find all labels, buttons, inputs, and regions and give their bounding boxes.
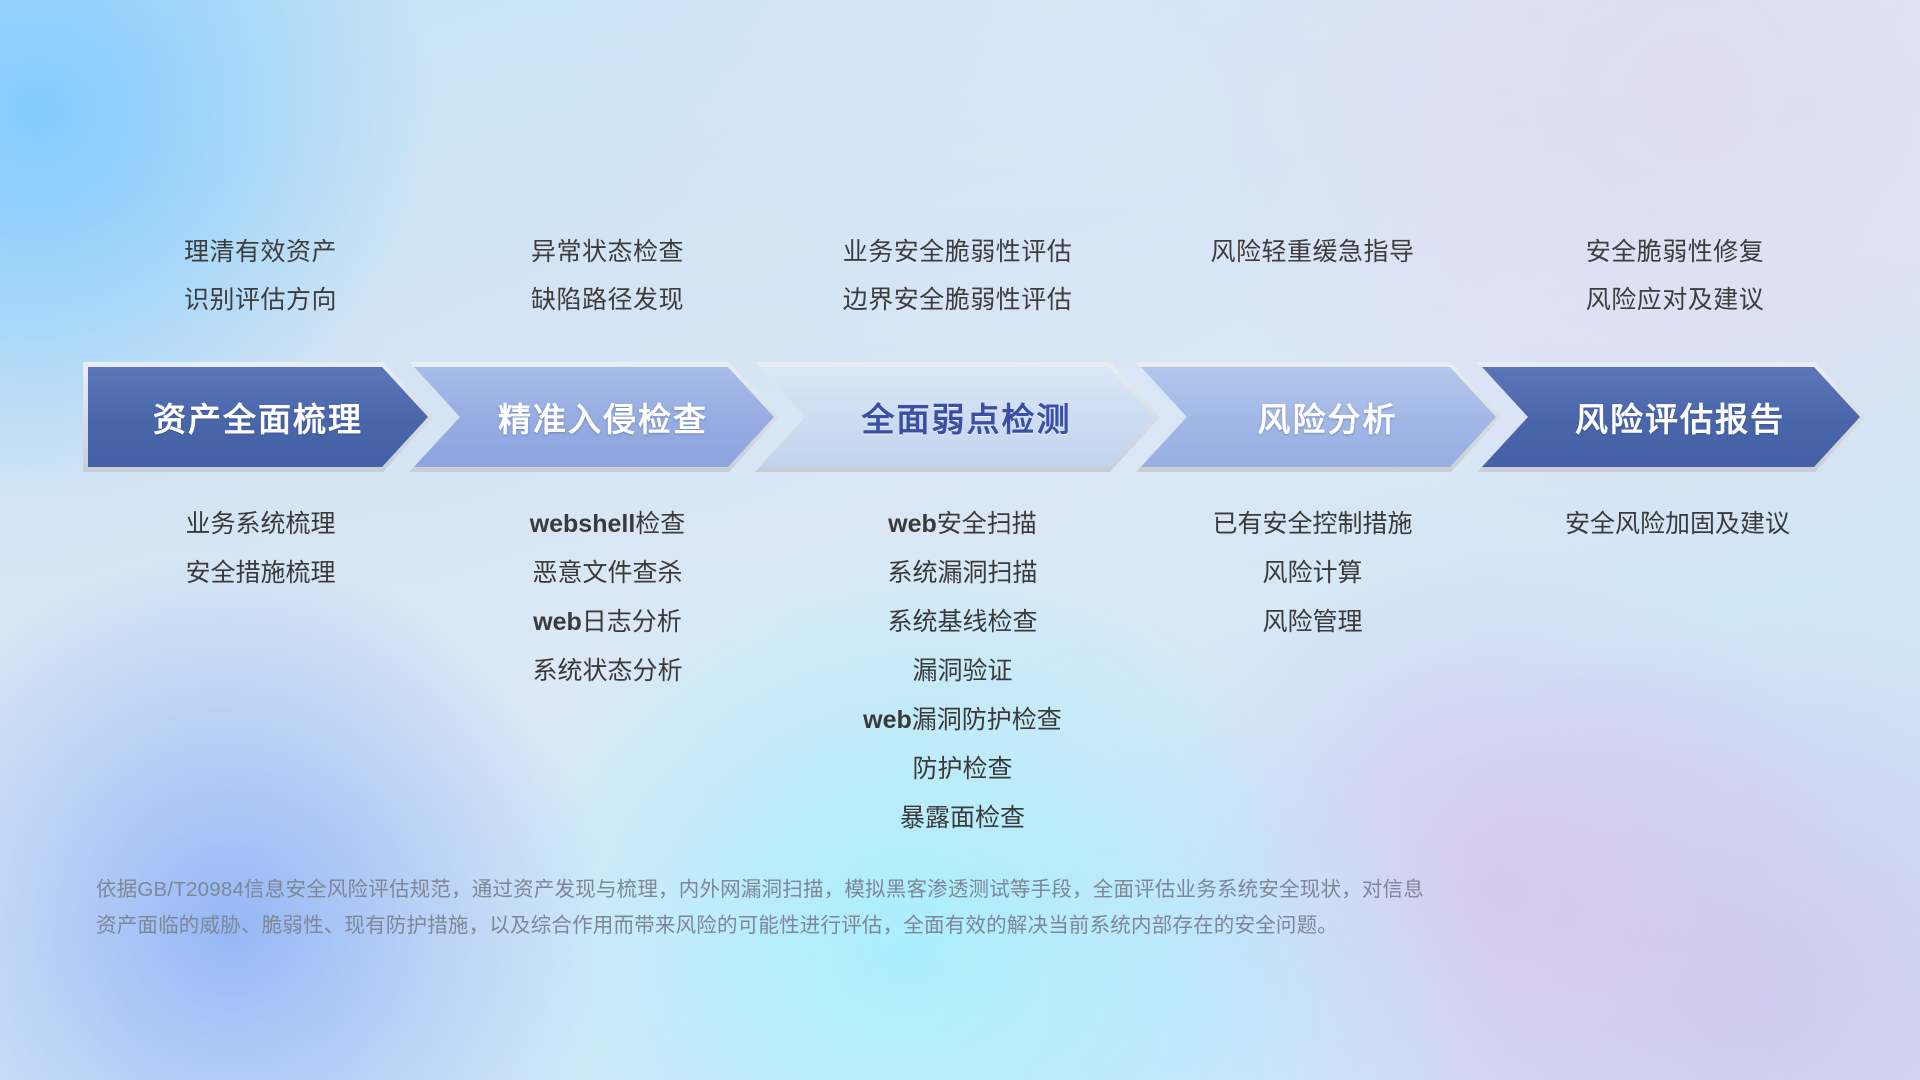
top-labels-asset-inventory: 理清有效资产 识别评估方向 [88, 228, 433, 324]
top-label-row: 理清有效资产 识别评估方向 异常状态检查 缺陷路径发现 业务安全脆弱性评估 边界… [0, 228, 1920, 338]
bottom-label-cjk: 系统基线检查 [887, 608, 1037, 636]
top-label: 业务安全脆弱性评估 [775, 228, 1140, 276]
footer-description: 依据GB/T20984信息安全风险评估规范，通过资产发现与梳理，内外网漏洞扫描，… [96, 872, 1616, 944]
bottom-label-cjk: 漏洞验证 [912, 657, 1012, 685]
bottom-label-latin: web [533, 608, 582, 636]
bottom-label-cjk: 防护检查 [912, 755, 1012, 783]
bottom-label-cjk: 系统漏洞扫描 [887, 559, 1037, 587]
bottom-label: 已有安全控制措施 [1140, 500, 1485, 549]
bottom-label: web安全扫描 [790, 500, 1135, 549]
bottom-label: 业务系统梳理 [88, 500, 433, 549]
bottom-label-cjk: 漏洞防护检查 [912, 706, 1062, 734]
bottom-label-latin: webshell [530, 510, 636, 538]
bottom-labels-weakness-detection: web安全扫描 系统漏洞扫描 系统基线检查 漏洞验证 web漏洞防护检查 防护检… [790, 500, 1135, 843]
stage-title-risk-analysis: 风险分析 [1141, 393, 1496, 441]
top-label: 边界安全脆弱性评估 [775, 276, 1140, 324]
bottom-label: 暴露面检查 [790, 794, 1135, 843]
top-label: 风险应对及建议 [1490, 276, 1860, 324]
bottom-label: webshell检查 [435, 500, 780, 549]
bottom-label-cjk: 安全风险加固及建议 [1565, 510, 1790, 538]
bottom-label-cjk: 暴露面检查 [900, 804, 1025, 832]
top-labels-weakness-detection: 业务安全脆弱性评估 边界安全脆弱性评估 [775, 228, 1140, 324]
bottom-label: 防护检查 [790, 745, 1135, 794]
footer-line: 资产面临的威胁、脆弱性、现有防护措施，以及综合作用而带来风险的可能性进行评估，全… [96, 908, 1616, 944]
stage-chevron-weakness-detection[interactable]: 全面弱点检测 [760, 367, 1155, 467]
top-label: 识别评估方向 [88, 276, 433, 324]
stage-title-weakness-detection: 全面弱点检测 [760, 393, 1155, 441]
bottom-label-cjk: 安全扫描 [937, 510, 1037, 538]
bottom-label: 系统状态分析 [435, 647, 780, 696]
stage-title-risk-report: 风险评估报告 [1482, 393, 1860, 441]
top-labels-risk-report: 安全脆弱性修复 风险应对及建议 [1490, 228, 1860, 324]
bottom-label: 系统漏洞扫描 [790, 549, 1135, 598]
bottom-label-cjk: 已有安全控制措施 [1212, 510, 1412, 538]
bottom-label-cjk: 恶意文件查杀 [532, 559, 682, 587]
bottom-labels-asset-inventory: 业务系统梳理 安全措施梳理 [88, 500, 433, 598]
bottom-label-cjk: 风险计算 [1262, 559, 1362, 587]
stage-chevron-risk-analysis[interactable]: 风险分析 [1141, 367, 1496, 467]
stage-chevron-intrusion-check[interactable]: 精准入侵检查 [414, 367, 774, 467]
stage-chevron-asset-inventory[interactable]: 资产全面梳理 [88, 367, 428, 467]
top-label: 风险轻重缓急指导 [1140, 228, 1485, 276]
bottom-label-cjk: 系统状态分析 [532, 657, 682, 685]
stage-title-intrusion-check: 精准入侵检查 [414, 393, 774, 441]
top-labels-intrusion-check: 异常状态检查 缺陷路径发现 [435, 228, 780, 324]
top-label: 理清有效资产 [88, 228, 433, 276]
bottom-labels-intrusion-check: webshell检查 恶意文件查杀 web日志分析 系统状态分析 [435, 500, 780, 696]
bottom-label-cjk: 风险管理 [1262, 608, 1362, 636]
bottom-label-cjk: 安全措施梳理 [185, 559, 335, 587]
bottom-label-latin: web [888, 510, 937, 538]
bottom-label-row: 业务系统梳理 安全措施梳理 webshell检查 恶意文件查杀 web日志分析 … [0, 500, 1920, 840]
bottom-label: web漏洞防护检查 [790, 696, 1135, 745]
stage-title-asset-inventory: 资产全面梳理 [88, 393, 428, 441]
top-label: 异常状态检查 [435, 228, 780, 276]
bottom-label: 恶意文件查杀 [435, 549, 780, 598]
infographic-stage: 理清有效资产 识别评估方向 异常状态检查 缺陷路径发现 业务安全脆弱性评估 边界… [0, 0, 1920, 1080]
bottom-labels-risk-analysis: 已有安全控制措施 风险计算 风险管理 [1140, 500, 1485, 647]
top-labels-risk-analysis: 风险轻重缓急指导 [1140, 228, 1485, 276]
bottom-label: 安全措施梳理 [88, 549, 433, 598]
top-label: 缺陷路径发现 [435, 276, 780, 324]
bottom-label: 风险管理 [1140, 598, 1485, 647]
bottom-label-latin: web [863, 706, 912, 734]
footer-line: 依据GB/T20984信息安全风险评估规范，通过资产发现与梳理，内外网漏洞扫描，… [96, 872, 1616, 908]
bottom-label: 安全风险加固及建议 [1490, 500, 1865, 549]
bottom-labels-risk-report: 安全风险加固及建议 [1490, 500, 1865, 549]
process-arrow-band: 资产全面梳理 精准入侵检查 全面弱点检测 风险分析 风险评估报告 [88, 367, 1860, 467]
bottom-label-cjk: 业务系统梳理 [185, 510, 335, 538]
bottom-label-cjk: 日志分析 [582, 608, 682, 636]
stage-chevron-risk-report[interactable]: 风险评估报告 [1482, 367, 1860, 467]
bottom-label: 漏洞验证 [790, 647, 1135, 696]
bottom-label: 系统基线检查 [790, 598, 1135, 647]
bottom-label: 风险计算 [1140, 549, 1485, 598]
bottom-label: web日志分析 [435, 598, 780, 647]
top-label: 安全脆弱性修复 [1490, 228, 1860, 276]
bottom-label-cjk: 检查 [635, 510, 685, 538]
